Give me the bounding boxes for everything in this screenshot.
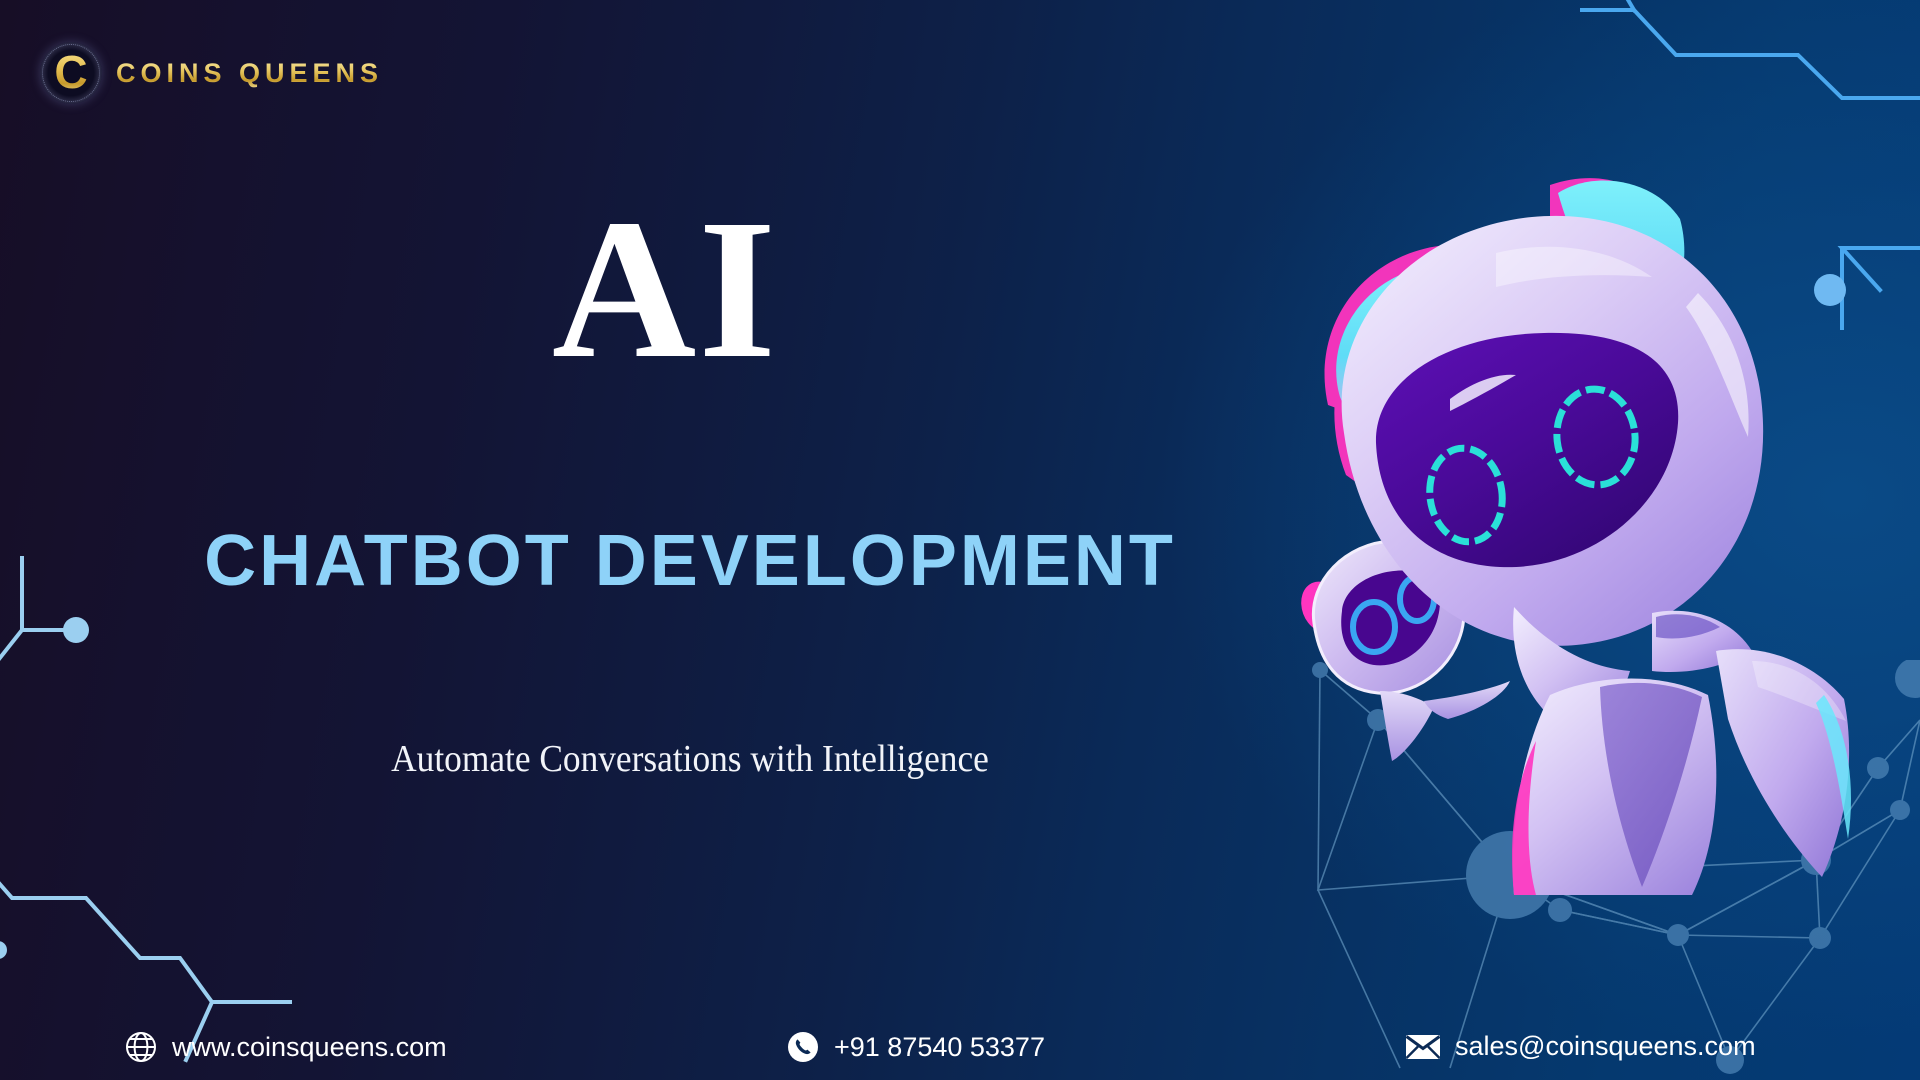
robot-mascot: [1300, 175, 1860, 895]
brand-name: COINS QUEENS: [116, 58, 383, 89]
globe-icon: [124, 1030, 158, 1064]
website-text: www.coinsqueens.com: [172, 1032, 447, 1063]
hero-tagline: Automate Conversations with Intelligence: [48, 737, 1331, 783]
coin-icon: C: [40, 42, 102, 104]
contact-email[interactable]: sales@coinsqueens.com: [1405, 1031, 1756, 1062]
phone-icon: [786, 1030, 820, 1064]
brand-logo[interactable]: C COINS QUEENS: [40, 42, 383, 104]
page-title: CHATBOT DEVELOPMENT: [0, 524, 1380, 600]
coin-letter: C: [54, 49, 87, 95]
ai-chatbot-banner: C COINS QUEENS AI CHATBOT DEVELOPMENT Au…: [0, 0, 1920, 1080]
circuit-node-dot: [63, 617, 89, 643]
contact-phone[interactable]: +91 87540 53377: [786, 1030, 1045, 1064]
contact-footer: www.coinsqueens.com +91 87540 53377 sale…: [0, 960, 1920, 1080]
phone-text: +91 87540 53377: [834, 1032, 1045, 1063]
hero-eyebrow: AI: [0, 190, 1330, 390]
contact-website[interactable]: www.coinsqueens.com: [124, 1030, 447, 1064]
email-text: sales@coinsqueens.com: [1455, 1031, 1756, 1062]
envelope-icon: [1405, 1033, 1441, 1061]
